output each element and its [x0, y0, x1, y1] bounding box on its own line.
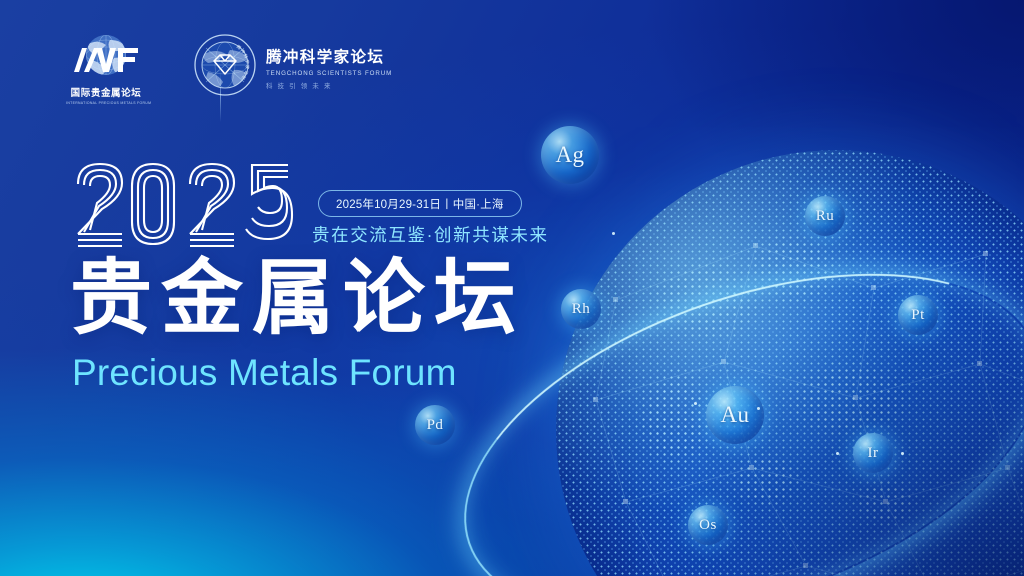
- speck: [694, 402, 697, 405]
- silver-bubble: Ag: [541, 126, 599, 184]
- ipmf-logo-en-label: INTERNATIONAL PRECIOUS METALS FORUM: [66, 101, 146, 105]
- tengchong-logo-en-label: TENGCHONG SCIENTISTS FORUM: [266, 70, 392, 77]
- page-title-en: Precious Metals Forum: [72, 352, 457, 394]
- globe-ipmf-logo-icon: [64, 34, 148, 82]
- year-2025-graphic: [74, 160, 306, 252]
- tengchong-logo-cn-label: 腾冲科学家论坛: [266, 45, 392, 67]
- speck: [901, 452, 904, 455]
- osmium-bubble: Os: [688, 505, 728, 545]
- gold-bubble: Au: [706, 386, 764, 444]
- date-location-badge: 2025年10月29-31日丨中国·上海: [318, 190, 522, 217]
- speck: [757, 407, 760, 410]
- ruthenium-bubble: Ru: [805, 196, 845, 236]
- event-slogan: 贵在交流互鉴·创新共谋未来: [312, 222, 549, 247]
- speck: [836, 452, 839, 455]
- tengchong-logo[interactable]: 腾冲科学家论坛 腾冲科学家论坛 TENGCHONG SCIENTISTS FOR…: [194, 34, 392, 96]
- ipmf-logo[interactable]: 国际贵金属论坛 INTERNATIONAL PRECIOUS METALS FO…: [64, 34, 148, 105]
- ipmf-logo-cn-label: 国际贵金属论坛: [64, 85, 148, 99]
- page-title-cn: 贵金属论坛: [70, 258, 525, 340]
- header-logos: 国际贵金属论坛 INTERNATIONAL PRECIOUS METALS FO…: [64, 34, 392, 105]
- iridium-bubble: Ir: [853, 433, 893, 473]
- tengchong-logo-slogan: 科技引领未来: [266, 81, 392, 90]
- forum-banner: AgRuRhPtAuPdIrOs: [0, 0, 1024, 576]
- tengchong-seal-logo-icon: 腾冲科学家论坛: [194, 34, 256, 96]
- platinum-bubble: Pt: [898, 295, 938, 335]
- palladium-bubble: Pd: [415, 405, 455, 445]
- speck: [612, 232, 615, 235]
- rhodium-bubble: Rh: [561, 289, 601, 329]
